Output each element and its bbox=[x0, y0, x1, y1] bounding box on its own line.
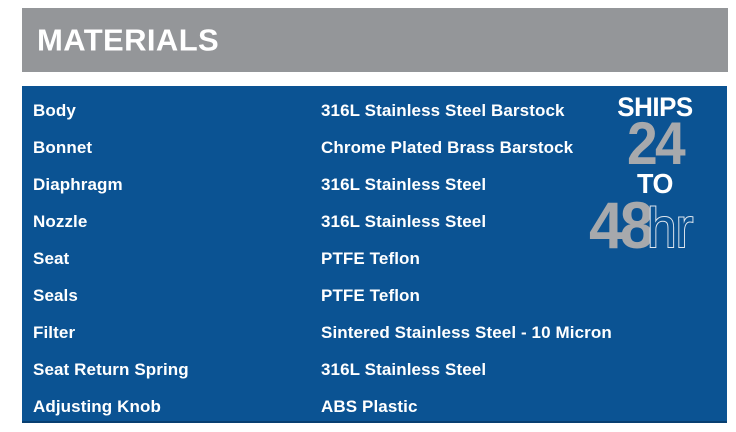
material-part-name: Seat Return Spring bbox=[33, 360, 321, 380]
table-row: Adjusting KnobABS Plastic bbox=[22, 388, 727, 423]
table-row: BonnetChrome Plated Brass Barstock bbox=[22, 129, 727, 166]
page-title: MATERIALS bbox=[37, 25, 219, 56]
table-row: Seat Return Spring316L Stainless Steel bbox=[22, 351, 727, 388]
table-row: SeatPTFE Teflon bbox=[22, 240, 727, 277]
material-part-name: Seat bbox=[33, 249, 321, 269]
material-value: 316L Stainless Steel bbox=[321, 360, 727, 380]
table-row: SealsPTFE Teflon bbox=[22, 277, 727, 314]
material-value: PTFE Teflon bbox=[321, 286, 727, 306]
material-value: 316L Stainless Steel Barstock bbox=[321, 101, 727, 121]
material-part-name: Nozzle bbox=[33, 212, 321, 232]
material-value: Sintered Stainless Steel - 10 Micron bbox=[321, 323, 727, 343]
material-value: 316L Stainless Steel bbox=[321, 212, 727, 232]
materials-panel: Body316L Stainless Steel BarstockBonnetC… bbox=[22, 86, 727, 423]
material-part-name: Diaphragm bbox=[33, 175, 321, 195]
materials-spec-sheet: MATERIALS Body316L Stainless Steel Barst… bbox=[0, 0, 736, 432]
material-value: Chrome Plated Brass Barstock bbox=[321, 138, 727, 158]
material-part-name: Filter bbox=[33, 323, 321, 343]
table-row: Nozzle316L Stainless Steel bbox=[22, 203, 727, 240]
materials-table: Body316L Stainless Steel BarstockBonnetC… bbox=[22, 86, 727, 423]
material-value: 316L Stainless Steel bbox=[321, 175, 727, 195]
material-value: ABS Plastic bbox=[321, 397, 727, 417]
table-row: Body316L Stainless Steel Barstock bbox=[22, 92, 727, 129]
material-part-name: Seals bbox=[33, 286, 321, 306]
table-row: Diaphragm316L Stainless Steel bbox=[22, 166, 727, 203]
materials-header-bar: MATERIALS bbox=[22, 8, 728, 72]
material-value: PTFE Teflon bbox=[321, 249, 727, 269]
material-part-name: Bonnet bbox=[33, 138, 321, 158]
table-row: FilterSintered Stainless Steel - 10 Micr… bbox=[22, 314, 727, 351]
material-part-name: Body bbox=[33, 101, 321, 121]
material-part-name: Adjusting Knob bbox=[33, 397, 321, 417]
